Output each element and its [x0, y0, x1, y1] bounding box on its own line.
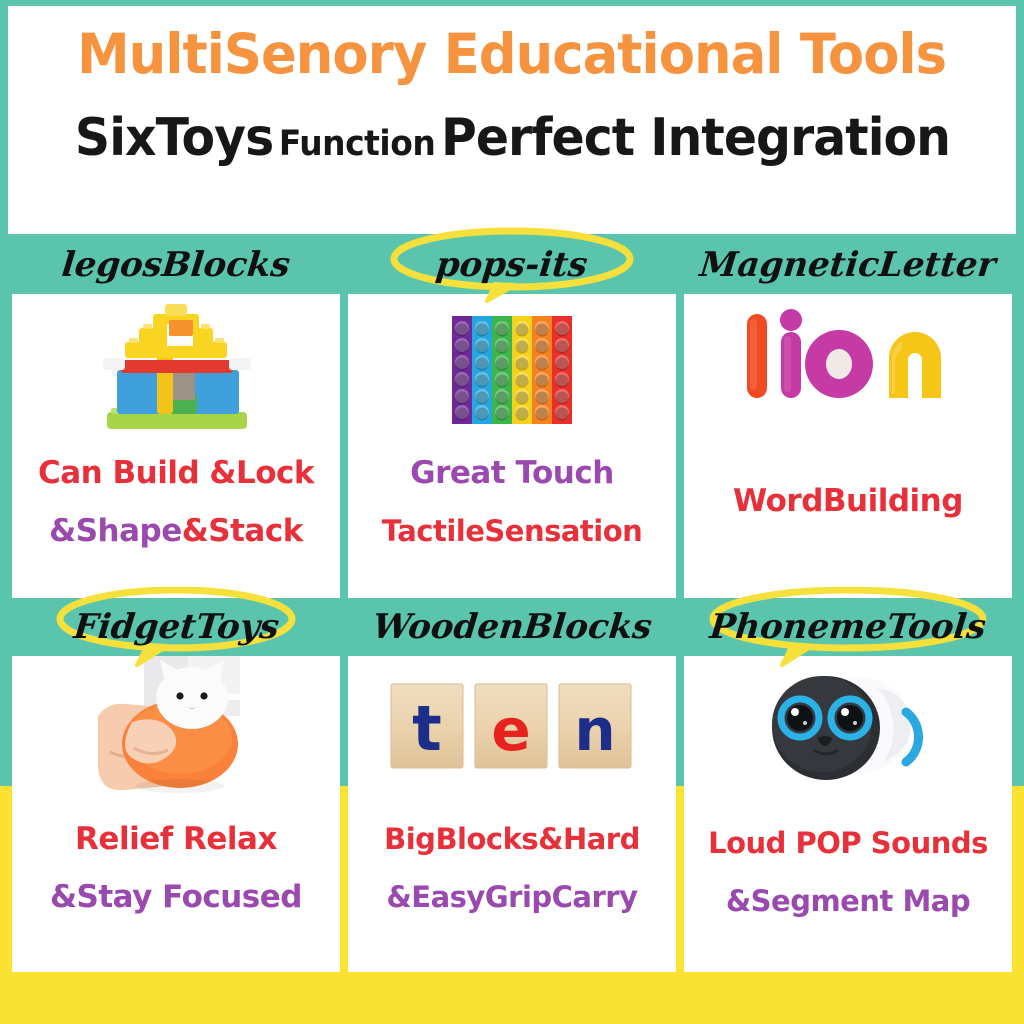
svg-text:e: e: [491, 696, 530, 764]
card-phoneme-tools[interactable]: Loud POP Sounds &Segment Map: [684, 656, 1012, 972]
card-image-robot: [684, 656, 1012, 808]
card-image-wooden: t e n: [348, 656, 676, 808]
card-line-2-tail: &Stack: [182, 513, 303, 549]
card-label-text: FidgetToys: [71, 607, 280, 647]
card-label-wooden-blocks[interactable]: WoodenBlocks: [344, 598, 680, 656]
card-wooden-blocks[interactable]: t e n BigBlocks&: [348, 656, 676, 972]
card-pops-its[interactable]: Great Touch TactileSensation: [348, 294, 676, 598]
card-text-fidget: Relief Relax &Stay Focused: [12, 810, 340, 926]
card-label-fidget-toys[interactable]: FidgetToys: [8, 598, 344, 656]
pop-it-rainbow-icon: [446, 308, 578, 432]
card-image-legos: [12, 294, 340, 446]
svg-text:t: t: [412, 692, 442, 765]
card-line-1: Great Touch: [348, 444, 676, 502]
subtitle-part-1: SixToys: [74, 108, 272, 168]
card-line-1: Loud POP Sounds: [684, 814, 1012, 872]
card-line-1: Can Build &Lock: [12, 444, 340, 502]
wooden-letter-blocks-ten-icon: t e n: [387, 678, 637, 778]
card-label-legos-blocks[interactable]: legosBlocks: [8, 236, 344, 294]
card-fidget-toys[interactable]: Relief Relax &Stay Focused: [12, 656, 340, 972]
subtitle-part-2: Function: [278, 124, 434, 164]
cards-grid: legosBlocks pops-its MagneticLetter: [8, 236, 1016, 1018]
card-line-2: TactileSensation: [348, 502, 676, 560]
card-label-magnetic-letter[interactable]: MagneticLetter: [680, 236, 1016, 294]
card-label-text: PhonemeTools: [708, 607, 988, 647]
card-line-2: &Stay Focused: [12, 868, 340, 926]
header-panel: MultiSenory Educational Tools SixToys Fu…: [8, 6, 1016, 234]
card-text-robot: Loud POP Sounds &Segment Map: [684, 814, 1012, 930]
card-image-popit: [348, 294, 676, 446]
card-image-magnetic: [684, 294, 1012, 446]
card-text-magnetic: WordBuilding: [684, 472, 1012, 530]
card-label-text: MagneticLetter: [698, 245, 998, 285]
card-line-1: Relief Relax: [12, 810, 340, 868]
card-line-1: WordBuilding: [684, 472, 1012, 530]
phoneme-robot-icon: [748, 660, 948, 800]
card-line-2-head: &Shape: [49, 513, 182, 549]
page-title: MultiSenory Educational Tools: [77, 22, 946, 86]
card-text-wooden: BigBlocks&Hard &EasyGripCarry: [348, 810, 676, 926]
card-label-text: pops-its: [434, 245, 589, 285]
card-line-1: BigBlocks&Hard: [348, 810, 676, 868]
card-label-text: WoodenBlocks: [371, 607, 654, 647]
card-line-2: &Segment Map: [684, 872, 1012, 930]
svg-text:n: n: [574, 696, 615, 764]
lego-house-icon: [81, 300, 271, 440]
card-label-text: legosBlocks: [60, 245, 292, 285]
infographic-page: MultiSenory Educational Tools SixToys Fu…: [0, 0, 1024, 1024]
card-label-phoneme-tools[interactable]: PhonemeTools: [680, 598, 1016, 656]
card-text-popit: Great Touch TactileSensation: [348, 444, 676, 560]
magnetic-letters-lion-icon: [733, 302, 963, 422]
card-legos-blocks[interactable]: Can Build &Lock &Shape&Stack: [12, 294, 340, 598]
card-label-pops-its[interactable]: pops-its: [344, 236, 680, 294]
card-line-2: &EasyGripCarry: [348, 868, 676, 926]
subtitle-part-3: Perfect Integration: [440, 108, 949, 168]
page-subtitle: SixToys Function Perfect Integration: [74, 108, 949, 168]
squeeze-cat-toy-icon: [76, 656, 276, 802]
card-text-legos: Can Build &Lock &Shape&Stack: [12, 444, 340, 560]
card-image-fidget: [12, 656, 340, 808]
card-magnetic-letter[interactable]: WordBuilding: [684, 294, 1012, 598]
card-line-2: &Shape&Stack: [12, 502, 340, 560]
